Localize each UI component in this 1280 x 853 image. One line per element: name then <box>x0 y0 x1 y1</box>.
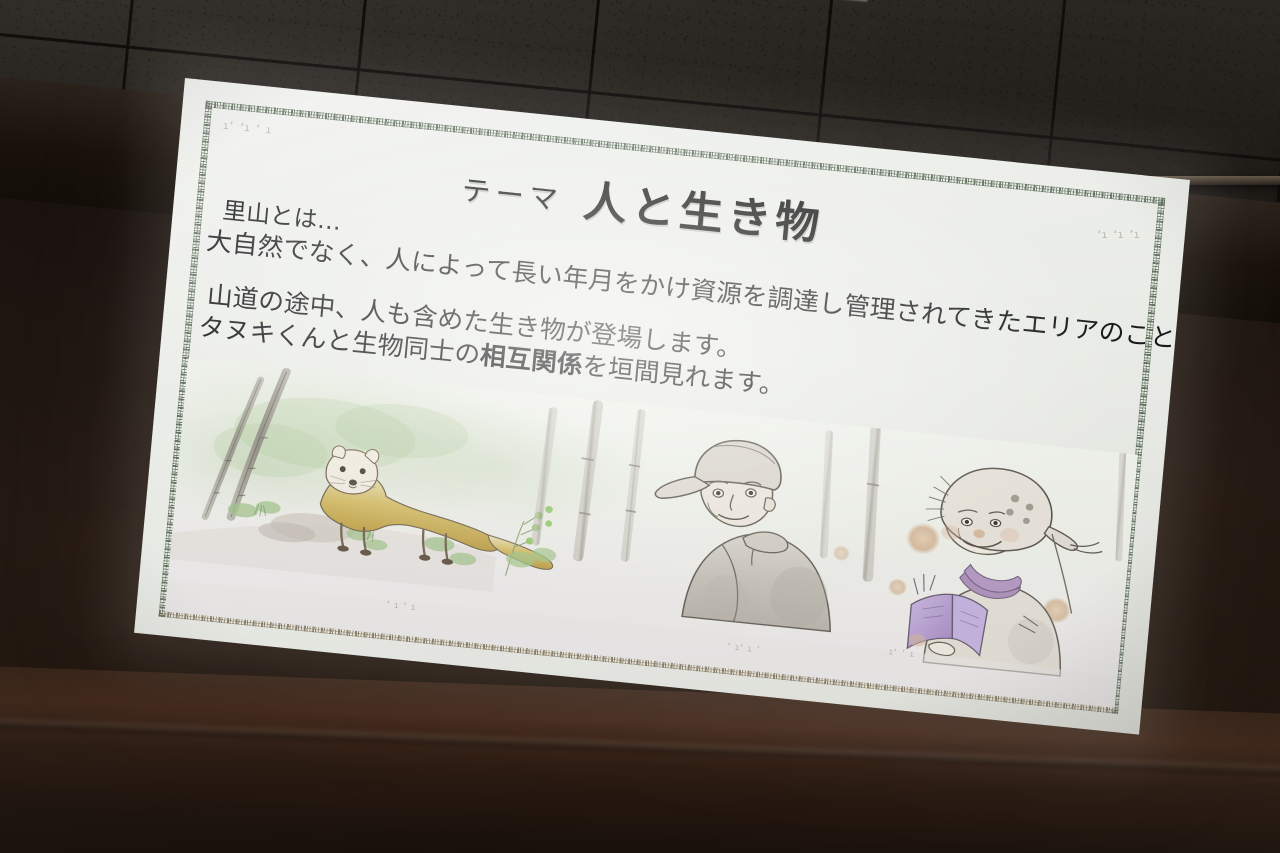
margin-scribble-top-left: ıʼ ʻı ʻ ı <box>222 119 271 136</box>
projection-screen: テーマ人と生き物 里山とは… 大自然でなく、人によって長い年月をかけ資源を調達し… <box>95 78 1245 730</box>
slide-surface: テーマ人と生き物 里山とは… 大自然でなく、人によって長い年月をかけ資源を調達し… <box>134 78 1190 735</box>
man-in-cap-scene <box>530 397 884 635</box>
marten-scene <box>170 362 571 598</box>
margin-scribble-top-right: ʻı ʻı ʼı <box>1096 229 1139 241</box>
screenshot-stage: テーマ人と生き物 里山とは… 大自然でなく、人によって長い年月をかけ資源を調達し… <box>0 0 1280 853</box>
slide-title-prefix: テーマ <box>460 174 564 217</box>
